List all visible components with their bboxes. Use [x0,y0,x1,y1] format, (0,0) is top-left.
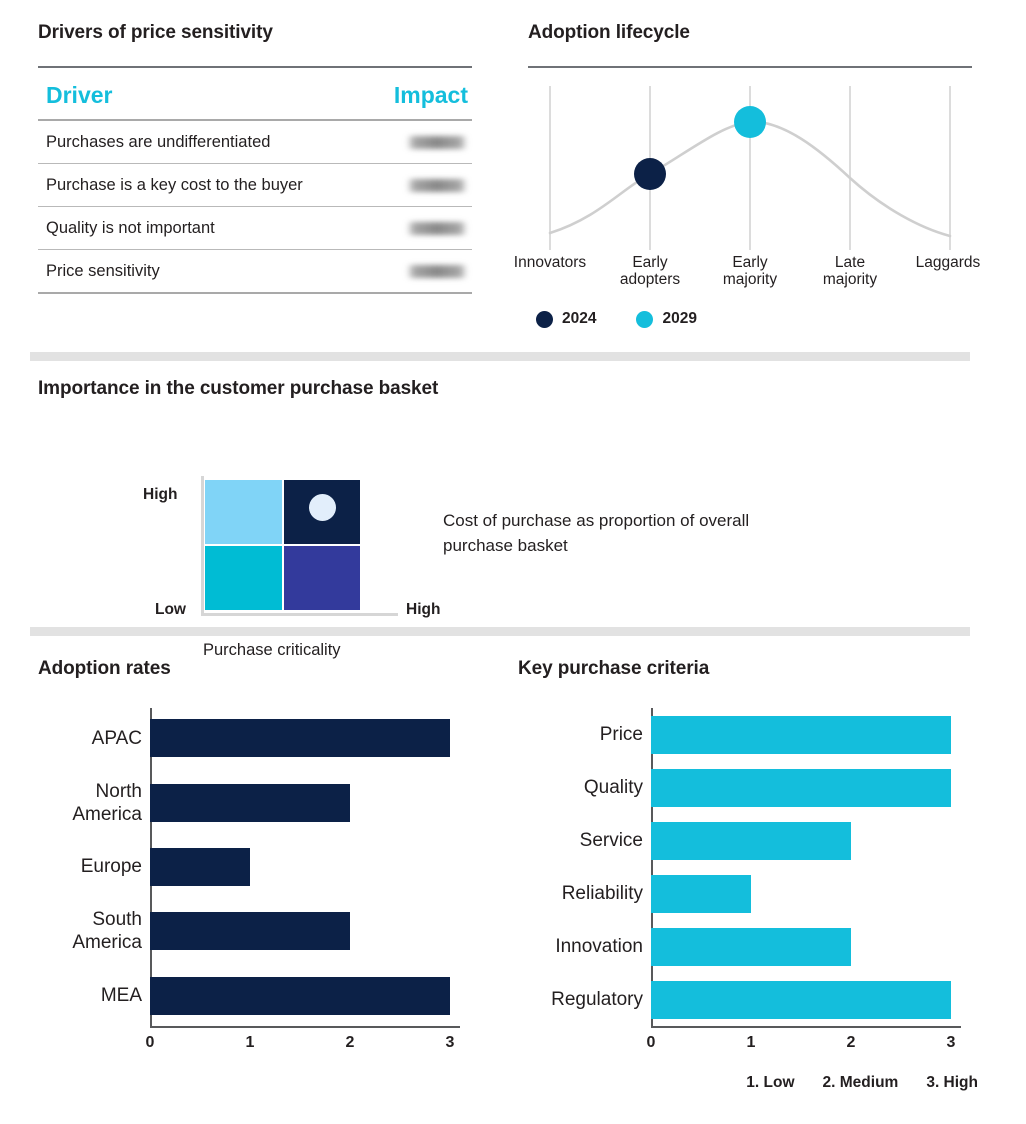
bar-north-america [150,784,350,822]
axis-label-innovators: Innovators [500,254,600,271]
bar-row-north-america: NorthAmerica [38,780,462,826]
legend-label-2029: 2029 [662,310,696,328]
criteria-scale-legend: 1. Low 2. Medium 3. High [518,1074,978,1092]
drivers-table-header-row: Driver Impact [38,82,472,120]
bar-mea [150,977,450,1015]
lifecycle-axis-labels: Innovators Earlyadopters Earlymajority L… [506,254,986,306]
lifecycle-panel: Adoption lifecycle Innovators Earlyadopt… [528,22,972,328]
driver-cell: Purchases are undifferentiated [38,120,350,164]
matrix-y-label-high: High [143,486,177,504]
bar-label-reliability: Reliability [518,882,651,905]
x-tick-0: 0 [146,1034,155,1052]
bar-row-innovation: Innovation [518,928,963,966]
column-header-impact: Impact [350,82,472,120]
lifecycle-panel-title: Adoption lifecycle [528,22,972,44]
axis-label-laggards: Laggards [898,254,998,271]
bar-row-south-america: SouthAmerica [38,908,462,954]
lifecycle-title-rule [528,66,972,68]
table-row: Purchases are undifferentiated [38,120,472,164]
x-tick-1: 1 [747,1034,756,1052]
scale-item-low: 1. Low [746,1074,794,1092]
key-purchase-criteria-chart: Price Quality Service Reliability Innova… [518,708,978,1038]
bar-label-regulatory: Regulatory [518,988,651,1011]
matrix-panel: Importance in the customer purchase bask… [38,378,978,606]
bar-label-quality: Quality [518,776,651,799]
bar-row-quality: Quality [518,769,963,807]
adoption-bar-rows: APAC NorthAmerica Europe SouthAmerica ME… [38,708,462,1026]
bar-service [651,822,851,860]
scale-item-high: 3. High [926,1074,978,1092]
impact-cell [350,207,472,250]
bar-label-mea: MEA [38,984,150,1007]
matrix-note: Cost of purchase as proportion of overal… [443,508,803,558]
legend-item-2024: 2024 [536,310,596,328]
bar-row-europe: Europe [38,848,462,886]
driver-cell: Price sensitivity [38,250,350,294]
driver-cell: Quality is not important [38,207,350,250]
driver-cell: Purchase is a key cost to the buyer [38,164,350,207]
adoption-rates-panel: Adoption rates APAC NorthAmerica Europe … [38,658,488,1038]
section-divider-top [30,352,970,361]
axis-label-early-majority: Earlymajority [700,254,800,288]
marker-2029 [734,106,766,138]
legend-label-2024: 2024 [562,310,596,328]
matrix-quadrants [205,480,360,610]
matrix-chart: High Low High Purchase criticality Cost … [38,426,978,606]
axis-label-early-adopters: Earlyadopters [600,254,700,288]
quadrant-top-left [205,480,282,544]
bar-row-service: Service [518,822,963,860]
drivers-panel: Drivers of price sensitivity Driver Impa… [38,22,472,294]
bar-europe [150,848,250,886]
bar-price [651,716,951,754]
bar-row-apac: APAC [38,719,462,757]
matrix-panel-title: Importance in the customer purchase bask… [38,378,978,400]
bar-reliability [651,875,751,913]
bar-label-apac: APAC [38,727,150,750]
marker-2024 [634,158,666,190]
bar-label-price: Price [518,723,651,746]
adoption-x-ticks: 0 1 2 3 [38,1034,462,1056]
criteria-x-ticks: 0 1 2 3 [518,1034,963,1056]
x-tick-1: 1 [246,1034,255,1052]
matrix-y-label-low: Low [155,601,186,619]
position-marker-dot [309,494,336,521]
bar-label-innovation: Innovation [518,935,651,958]
redacted-value [406,136,468,149]
section-divider-bottom [30,627,970,636]
key-purchase-criteria-title: Key purchase criteria [518,658,978,680]
table-row: Quality is not important [38,207,472,250]
redacted-value [406,265,468,278]
x-tick-2: 2 [346,1034,355,1052]
impact-cell [350,164,472,207]
bar-innovation [651,928,851,966]
bar-row-regulatory: Regulatory [518,981,963,1019]
matrix-x-label-high: High [406,601,440,619]
bar-label-service: Service [518,829,651,852]
impact-cell [350,250,472,294]
redacted-value [406,179,468,192]
matrix-x-axis [201,613,398,616]
lifecycle-svg [528,78,972,258]
bar-south-america [150,912,350,950]
quadrant-bottom-left [205,546,282,610]
bar-row-reliability: Reliability [518,875,963,913]
axis-label-late-majority: Latemajority [800,254,900,288]
x-tick-2: 2 [847,1034,856,1052]
scale-item-medium: 2. Medium [823,1074,899,1092]
bar-regulatory [651,981,951,1019]
drivers-panel-title: Drivers of price sensitivity [38,22,472,44]
x-tick-3: 3 [446,1034,455,1052]
drivers-title-rule [38,66,472,68]
bar-label-europe: Europe [38,855,150,878]
bar-quality [651,769,951,807]
table-row: Price sensitivity [38,250,472,294]
bar-row-price: Price [518,716,963,754]
matrix-y-axis [201,476,204,616]
x-tick-0: 0 [647,1034,656,1052]
redacted-value [406,222,468,235]
key-purchase-criteria-panel: Key purchase criteria Price Quality Serv… [518,658,978,1038]
bar-label-south-america: SouthAmerica [38,908,150,954]
quadrant-top-right [284,480,361,544]
bar-row-mea: MEA [38,977,462,1015]
lifecycle-legend: 2024 2029 [536,310,972,328]
table-row: Purchase is a key cost to the buyer [38,164,472,207]
quadrant-bottom-right [284,546,361,610]
impact-cell [350,120,472,164]
legend-swatch-2029 [636,311,653,328]
adoption-x-axis [150,1026,460,1028]
legend-swatch-2024 [536,311,553,328]
criteria-bar-rows: Price Quality Service Reliability Innova… [518,708,963,1026]
x-tick-3: 3 [947,1034,956,1052]
drivers-table: Driver Impact Purchases are undifferenti… [38,82,472,294]
bar-label-north-america: NorthAmerica [38,780,150,826]
column-header-driver: Driver [38,82,350,120]
adoption-rates-title: Adoption rates [38,658,488,680]
lifecycle-chart [528,78,972,258]
bar-apac [150,719,450,757]
criteria-x-axis [651,1026,961,1028]
legend-item-2029: 2029 [636,310,696,328]
adoption-rates-chart: APAC NorthAmerica Europe SouthAmerica ME… [38,708,488,1038]
